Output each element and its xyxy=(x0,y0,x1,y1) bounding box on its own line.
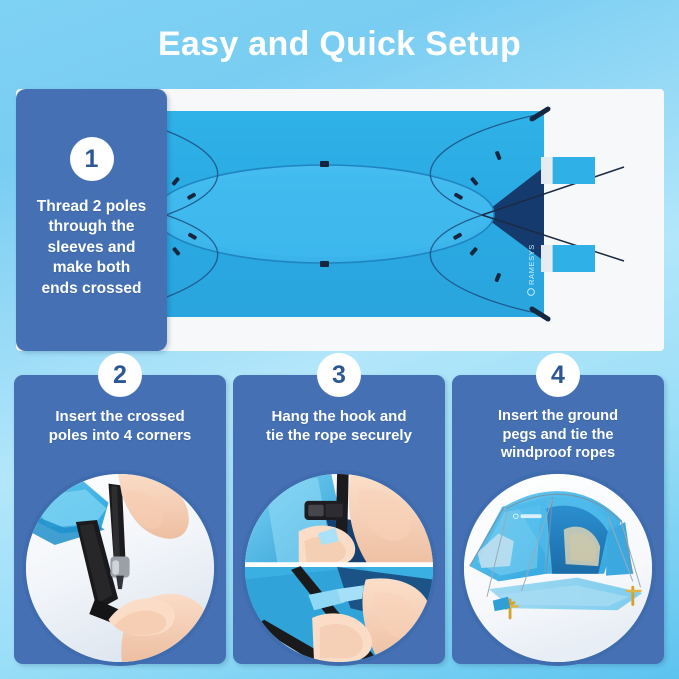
step-2-line-2: poles into 4 corners xyxy=(49,427,192,444)
step-2-photo xyxy=(22,470,218,666)
step-3-photo-image xyxy=(245,474,433,662)
step-3-photo xyxy=(241,470,437,666)
step-3-line-1: Hang the hook and xyxy=(272,408,407,425)
step-2-card: 2 Insert the crossed poles into 4 corner… xyxy=(14,375,226,664)
step-1-line-2: through the xyxy=(48,218,134,235)
step-3-line-2: tie the rope securely xyxy=(266,427,412,444)
steps-row: 2 Insert the crossed poles into 4 corner… xyxy=(0,352,679,679)
step-1-line-1: Thread 2 poles xyxy=(37,198,146,215)
step-1-line-5: ends crossed xyxy=(42,280,142,297)
step-3-card: 3 Hang the hook and tie the rope securel… xyxy=(233,375,445,664)
step-1-section: RAMESYS 1 Thread 2 poles through the sle… xyxy=(16,89,664,351)
brand-logo-text: RAMESYS xyxy=(527,244,536,285)
step-1-number-badge: 1 xyxy=(70,137,114,181)
step-1-line-4: make both xyxy=(53,259,131,276)
step-4-number-badge: 4 xyxy=(536,353,580,397)
step-4-line-1: Insert the ground xyxy=(498,408,618,424)
step-2-photo-image xyxy=(26,474,214,662)
step-4-text: Insert the ground pegs and tie the windp… xyxy=(452,407,664,463)
step-1-caption-card: 1 Thread 2 poles through the sleeves and… xyxy=(16,89,167,351)
step-2-number-badge: 2 xyxy=(98,353,142,397)
step-1-text: Thread 2 poles through the sleeves and m… xyxy=(31,197,152,299)
step-4-photo xyxy=(460,470,656,666)
step-1-line-3: sleeves and xyxy=(48,239,136,256)
header: Easy and Quick Setup xyxy=(0,0,679,88)
page-title: Easy and Quick Setup xyxy=(158,25,521,64)
step-4-photo-image xyxy=(464,474,652,662)
step-3-number-badge: 3 xyxy=(317,353,361,397)
step-4-card: 4 Insert the ground pegs and tie the win… xyxy=(452,375,664,664)
step-2-text: Insert the crossed poles into 4 corners xyxy=(14,407,226,445)
infographic-page: Easy and Quick Setup xyxy=(0,0,679,679)
step-4-line-3: windproof ropes xyxy=(501,445,615,461)
step-3-text: Hang the hook and tie the rope securely xyxy=(233,407,445,445)
step-4-line-2: pegs and tie the xyxy=(502,427,613,443)
step-2-line-1: Insert the crossed xyxy=(55,408,184,425)
